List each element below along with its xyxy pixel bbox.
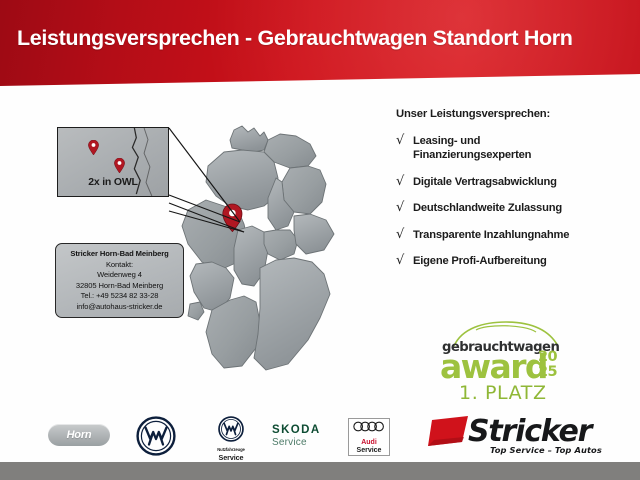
- promise-text-5: Eigene Profi-Aufbereitung: [413, 254, 547, 268]
- logo-skoda-line2: Service: [272, 437, 321, 449]
- promise-item-2: √ Digitale Vertragsabwicklung: [396, 175, 631, 189]
- contact-email[interactable]: info@autohaus-stricker.de: [60, 302, 179, 313]
- promise-item-3: √ Deutschlandweite Zulassung: [396, 201, 631, 215]
- promise-text-4: Transparente Inzahlungnahme: [413, 228, 569, 242]
- award-badge: gebrauchtwagen award 20 25 1. PLATZ: [432, 320, 582, 404]
- promise-item-1: √ Leasing- und Finanzierungsexperten: [396, 134, 631, 162]
- promise-text-1-line2: Finanzierungsexperten: [413, 148, 531, 162]
- logo-horn: Horn: [48, 424, 110, 446]
- check-icon: √: [396, 228, 413, 241]
- logo-stricker-tagline: Top Service – Top Autos: [490, 445, 602, 455]
- award-year-bottom: 25: [538, 364, 557, 380]
- owl-inset-map: 2x in OWL: [57, 127, 169, 197]
- logo-stricker: Stricker Top Service – Top Autos: [428, 412, 598, 460]
- contact-city: 32805 Horn-Bad Meinberg: [60, 281, 179, 292]
- promise-item-4: √ Transparente Inzahlungnahme: [396, 228, 631, 242]
- award-year-top: 20: [538, 349, 557, 365]
- check-icon: √: [396, 201, 413, 214]
- map-pin-icon-1: [88, 140, 99, 155]
- contact-phone[interactable]: Tel.: +49 5234 82 33-28: [60, 291, 179, 302]
- promise-text-1: Leasing- und Finanzierungsexperten: [413, 134, 531, 162]
- logo-skoda: SKODA Service: [272, 424, 321, 449]
- logo-stricker-name: Stricker: [468, 414, 591, 449]
- contact-label: Kontakt:: [60, 260, 179, 271]
- logo-audi-line2: Service: [349, 447, 389, 455]
- logo-audi-rings-icon: [352, 421, 386, 432]
- logo-audi-line1: Audi: [349, 438, 389, 447]
- footer-bar: [0, 462, 640, 480]
- promise-text-1-line1: Leasing- und: [413, 134, 531, 148]
- logo-vw-nutzfahrzeuge: Nutzfahrzeuge Service: [206, 416, 256, 460]
- logo-volkswagen-icon: [136, 416, 176, 456]
- check-icon: √: [396, 134, 413, 147]
- award-place: 1. PLATZ: [459, 382, 547, 404]
- promise-text-3: Deutschlandweite Zulassung: [413, 201, 562, 215]
- promise-list: Unser Leistungsversprechen: √ Leasing- u…: [396, 108, 631, 281]
- logo-vw-nf-line2: Service: [206, 453, 256, 462]
- logo-skoda-line1: SKODA: [272, 424, 321, 437]
- award-word-award: award: [440, 347, 547, 386]
- contact-name: Stricker Horn-Bad Meinberg: [60, 249, 179, 260]
- promise-heading: Unser Leistungsversprechen:: [396, 108, 631, 120]
- check-icon: √: [396, 254, 413, 267]
- map-pin-icon-2: [114, 158, 125, 173]
- promise-text-2: Digitale Vertragsabwicklung: [413, 175, 557, 189]
- contact-card: Stricker Horn-Bad Meinberg Kontakt: Weid…: [55, 243, 184, 318]
- logo-horn-label: Horn: [48, 424, 110, 446]
- contact-street: Weidenweg 4: [60, 270, 179, 281]
- check-icon: √: [396, 175, 413, 188]
- promise-item-5: √ Eigene Profi-Aufbereitung: [396, 254, 631, 268]
- logo-volkswagen-small-icon: [218, 416, 244, 442]
- slide-canvas: Leistungsversprechen - Gebrauchtwagen St…: [0, 0, 640, 480]
- logo-audi: Audi Service: [348, 418, 390, 456]
- owl-inset-label: 2x in OWL: [58, 176, 168, 188]
